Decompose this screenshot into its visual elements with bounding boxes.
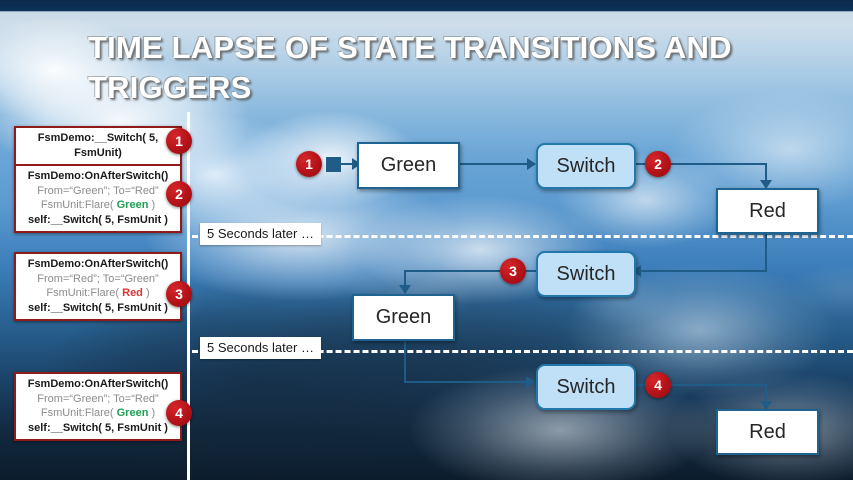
token-green: Green (117, 199, 149, 211)
node-label: Switch (557, 263, 616, 286)
code-line: self:__Switch( 5, FsmUnit ) (22, 421, 174, 436)
node-label: Switch (557, 376, 616, 399)
token-red: Red (122, 287, 143, 299)
code-line: FsmUnit:Flare( Green ) (22, 406, 174, 421)
node-switch-2: Switch (536, 251, 636, 297)
arrowhead-into-green-2 (399, 285, 411, 294)
code-callout-4: FsmDemo:OnAfterSwitch() From=“Green”; To… (14, 372, 182, 441)
node-label: Green (381, 154, 437, 177)
node-red-1: Red (716, 188, 819, 234)
connector-red1-switch2-h (641, 270, 767, 272)
badge-flow-1: 1 (296, 151, 322, 177)
node-switch-3: Switch (536, 364, 636, 410)
code-line: FsmUnit:Flare( Green ) (22, 198, 174, 213)
node-switch-1: Switch (536, 143, 636, 189)
badge-code-4: 4 (166, 400, 192, 426)
node-label: Green (376, 306, 432, 329)
code-callout-3: FsmDemo:OnAfterSwitch() From=“Red”; To=“… (14, 252, 182, 321)
node-green-2: Green (352, 294, 455, 341)
connector-red1-switch2-v (765, 230, 767, 272)
page-title: TIME LAPSE OF STATE TRANSITIONS AND TRIG… (88, 28, 788, 107)
code-segment-4: FsmDemo:OnAfterSwitch() From=“Green”; To… (16, 374, 180, 439)
code-line: FsmDemo:__Switch( 5, (22, 131, 174, 146)
code-segment-3: FsmDemo:OnAfterSwitch() From=“Red”; To=“… (16, 254, 180, 319)
code-callout-1: FsmDemo:__Switch( 5, FsmUnit) FsmDemo:On… (14, 126, 182, 233)
token-green: Green (117, 407, 149, 419)
start-marker (326, 157, 341, 172)
arrowhead-into-switch-1 (527, 158, 536, 170)
code-fragment: FsmUnit:Flare( (41, 407, 117, 419)
node-label: Switch (557, 155, 616, 178)
connector-green2-switch3-v (404, 337, 406, 383)
badge-code-2: 2 (166, 181, 192, 207)
code-fragment: FsmUnit:Flare( (46, 287, 122, 299)
code-line: From=“Red”; To=“Green” (22, 272, 174, 287)
code-line: FsmDemo:OnAfterSwitch() (22, 257, 174, 272)
code-fragment: FsmUnit:Flare( (41, 199, 117, 211)
top-band (0, 0, 853, 11)
badge-code-1: 1 (166, 128, 192, 154)
code-fragment: ) (148, 199, 155, 211)
badge-code-3: 3 (166, 281, 192, 307)
code-line: From=“Green”; To=“Red” (22, 184, 174, 199)
code-segment-1: FsmDemo:__Switch( 5, FsmUnit) (16, 128, 180, 164)
code-line: self:__Switch( 5, FsmUnit ) (22, 213, 174, 228)
code-fragment: ) (148, 407, 155, 419)
time-label-1: 5 Seconds later … (200, 223, 321, 245)
badge-flow-4: 4 (645, 372, 671, 398)
code-line: FsmUnit:Flare( Red ) (22, 286, 174, 301)
code-line: FsmDemo:OnAfterSwitch() (22, 169, 174, 184)
code-line: From=“Green”; To=“Red” (22, 392, 174, 407)
connector-green2-switch3-h (404, 381, 528, 383)
code-line: self:__Switch( 5, FsmUnit ) (22, 301, 174, 316)
node-label: Red (749, 421, 786, 444)
code-line: FsmDemo:OnAfterSwitch() (22, 377, 174, 392)
connector-green-switch-1 (458, 163, 535, 165)
code-fragment: ) (143, 287, 150, 299)
badge-flow-3: 3 (500, 258, 526, 284)
node-label: Red (749, 200, 786, 223)
arrowhead-into-switch-3 (526, 376, 535, 388)
node-green-1: Green (357, 142, 460, 189)
badge-flow-2: 2 (645, 151, 671, 177)
code-line: FsmUnit) (22, 146, 174, 161)
slide-canvas: TIME LAPSE OF STATE TRANSITIONS AND TRIG… (0, 0, 853, 480)
time-label-2: 5 Seconds later … (200, 337, 321, 359)
code-segment-2: FsmDemo:OnAfterSwitch() From=“Green”; To… (16, 164, 180, 231)
node-red-2: Red (716, 409, 819, 455)
